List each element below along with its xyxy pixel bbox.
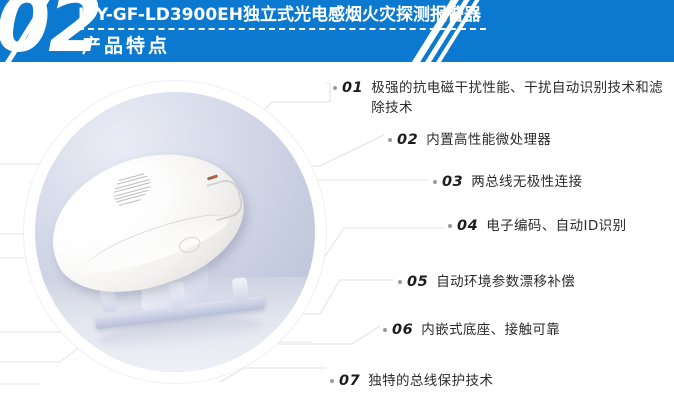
bullet-dot-icon <box>383 328 387 332</box>
bullet-dot-icon <box>388 138 392 142</box>
page-subtitle: 产品特点 <box>78 32 486 60</box>
feature-text: 极强的抗电磁干扰性能、干扰自动识别技术和滤除技术 <box>371 78 669 118</box>
stand-post <box>232 277 250 303</box>
title-divider <box>78 28 486 30</box>
detector-vent-icon <box>109 171 158 208</box>
header-title-block: JTY-GF-LD3900EH独立式光电感烟火灾探测报警器 产品特点 <box>78 0 486 60</box>
product-feature-slide: 02 JTY-GF-LD3900EH独立式光电感烟火灾探测报警器 产品特点 <box>0 0 674 406</box>
feature-item-06: 06 内嵌式底座、接触可靠 <box>383 320 560 340</box>
feature-item-04: 04 电子编码、自动ID识别 <box>448 216 626 236</box>
feature-number: 05 <box>407 272 428 292</box>
feature-text: 内置高性能微处理器 <box>426 130 551 150</box>
bullet-dot-icon <box>330 379 334 383</box>
feature-text: 独特的总线保护技术 <box>368 371 493 391</box>
feature-item-02: 02 内置高性能微处理器 <box>388 130 551 150</box>
feature-text: 电子编码、自动ID识别 <box>486 216 626 236</box>
feature-text: 自动环境参数漂移补偿 <box>436 272 575 292</box>
bullet-dot-icon <box>398 280 402 284</box>
feature-number: 01 <box>342 78 363 98</box>
feature-text: 内嵌式底座、接触可靠 <box>421 320 560 340</box>
product-photo <box>35 92 315 372</box>
bullet-dot-icon <box>448 224 452 228</box>
feature-number: 02 <box>397 130 418 150</box>
page-title: JTY-GF-LD3900EH独立式光电感烟火灾探测报警器 <box>78 0 486 27</box>
bullet-dot-icon <box>433 180 437 184</box>
feature-item-05: 05 自动环境参数漂移补偿 <box>398 272 575 292</box>
feature-item-07: 07 独特的总线保护技术 <box>330 371 493 391</box>
feature-number: 03 <box>442 172 463 192</box>
feature-text: 两总线无极性连接 <box>471 172 582 192</box>
feature-item-03: 03 两总线无极性连接 <box>433 172 582 192</box>
product-photo-ring <box>24 81 326 383</box>
bullet-dot-icon <box>333 86 337 90</box>
feature-number: 06 <box>392 320 413 340</box>
feature-number: 04 <box>457 216 478 236</box>
feature-item-01: 01 极强的抗电磁干扰性能、干扰自动识别技术和滤除技术 <box>333 78 669 118</box>
feature-number: 07 <box>339 371 360 391</box>
